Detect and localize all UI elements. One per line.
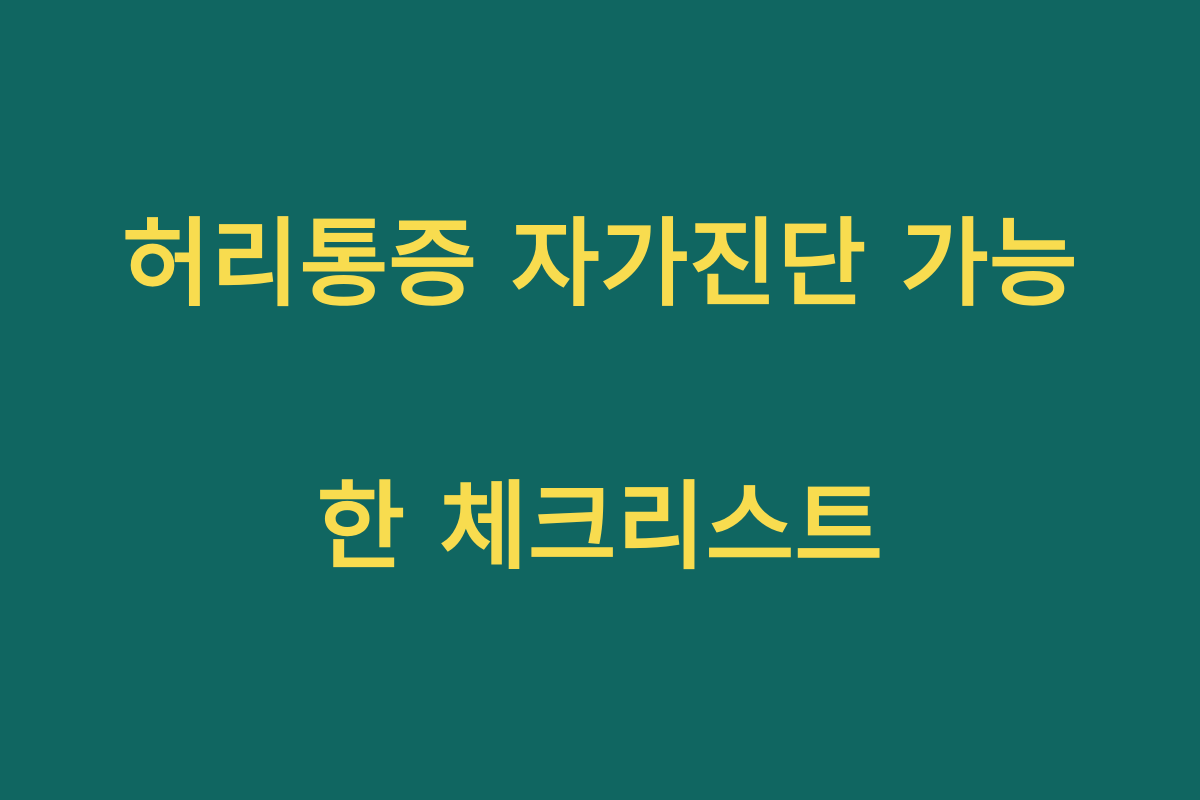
- page-title-line-2: 한 체크리스트: [60, 462, 1140, 593]
- banner-canvas: 허리통증 자가진단 가능 한 체크리스트: [0, 0, 1200, 800]
- page-title-line-1: 허리통증 자가진단 가능: [60, 199, 1140, 330]
- page-title: 허리통증 자가진단 가능 한 체크리스트: [60, 69, 1140, 732]
